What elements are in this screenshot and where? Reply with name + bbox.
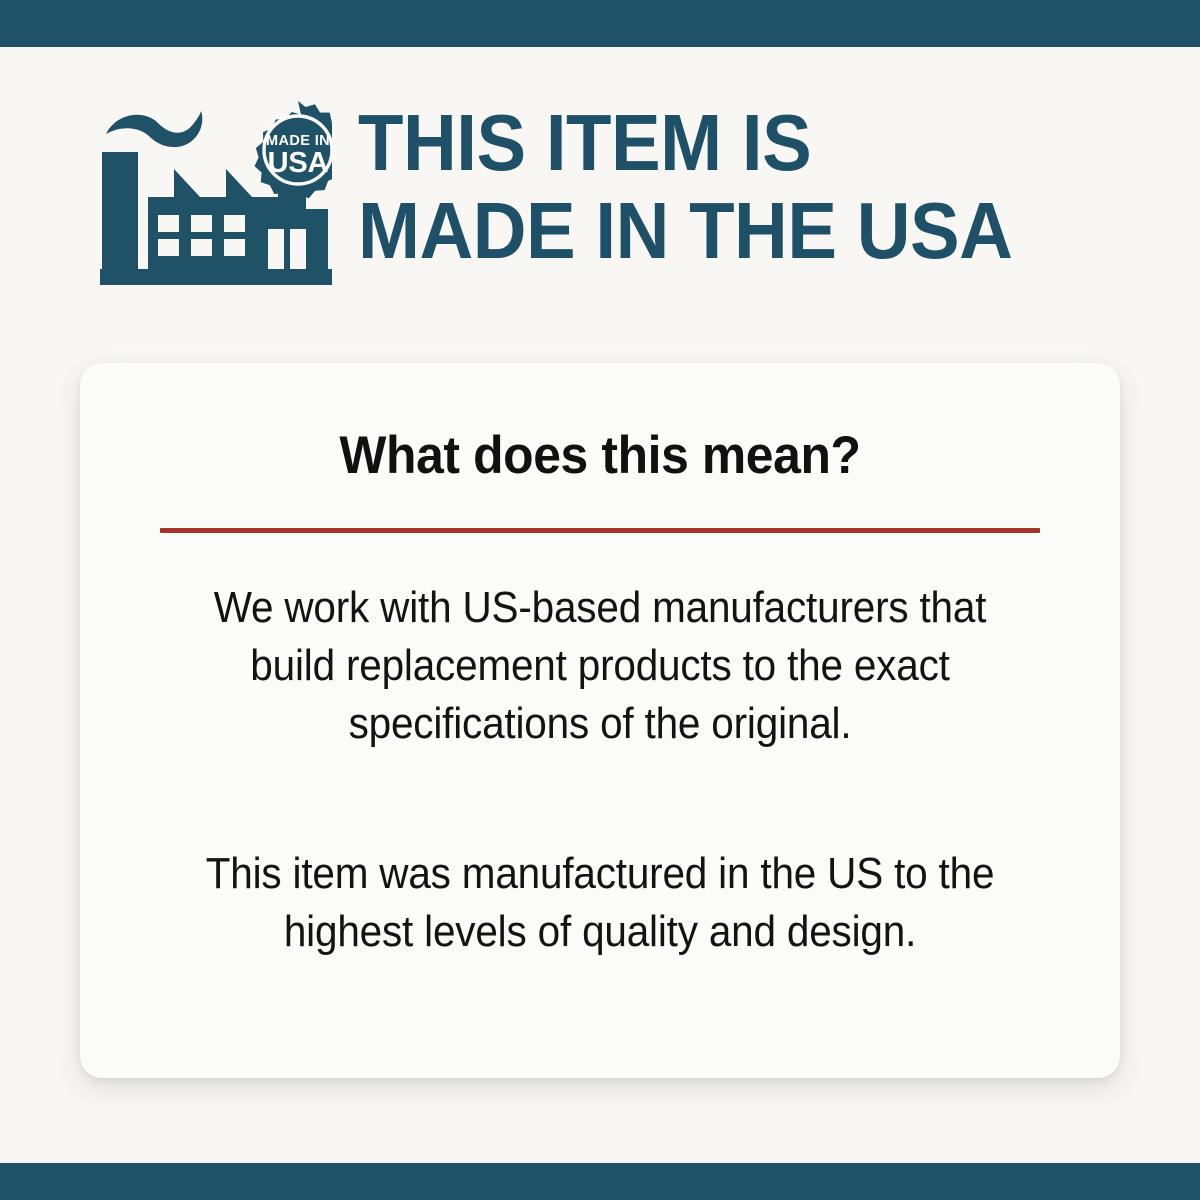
card-heading: What does this mean?	[111, 363, 1089, 485]
badge-usa-text: USA	[268, 147, 329, 179]
made-in-usa-logo: MADE IN USA	[100, 97, 332, 285]
explanation-card: What does this mean? We work with US-bas…	[80, 363, 1120, 1078]
factory-icon: MADE IN USA	[100, 97, 332, 285]
bottom-brand-band	[0, 1163, 1200, 1200]
made-in-usa-badge: MADE IN USA	[255, 101, 333, 200]
title-line-2: MADE IN THE USA	[358, 187, 1095, 275]
card-divider	[160, 528, 1040, 533]
page-stage: MADE IN USA THIS ITEM IS MADE IN THE USA…	[0, 47, 1200, 1163]
header: MADE IN USA THIS ITEM IS MADE IN THE USA	[100, 97, 1150, 297]
page-title: THIS ITEM IS MADE IN THE USA	[332, 97, 1150, 275]
card-paragraph-2: This item was manufactured in the US to …	[175, 845, 1025, 961]
card-body: We work with US-based manufacturers that…	[80, 579, 1120, 961]
top-brand-band	[0, 0, 1200, 47]
card-paragraph-1: We work with US-based manufacturers that…	[175, 579, 1025, 753]
title-line-1: THIS ITEM IS	[358, 99, 1095, 187]
